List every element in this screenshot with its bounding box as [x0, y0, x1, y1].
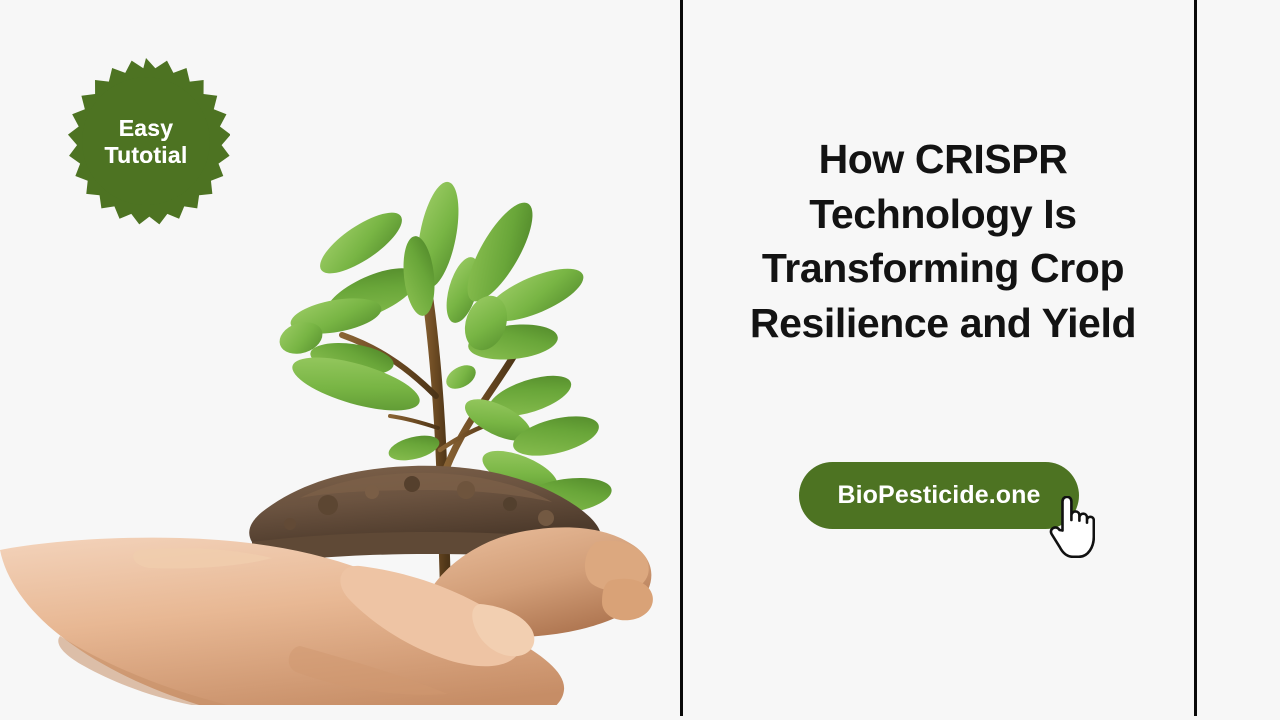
hands-holding-seedling-image [0, 80, 680, 705]
badge-line-2: Tutotial [105, 142, 188, 169]
biopesticide-link-button[interactable]: BioPesticide.one [799, 462, 1078, 529]
divider-left [680, 0, 683, 716]
cta-container: BioPesticide.one [684, 462, 1194, 529]
badge-line-1: Easy [105, 115, 188, 142]
slide-canvas: Easy Tutotial [0, 0, 1280, 720]
badge-text: Easy Tutotial [105, 115, 188, 168]
page-title: How CRISPR Technology Is Transforming Cr… [704, 132, 1182, 350]
divider-right [1194, 0, 1197, 716]
right-content-panel: How CRISPR Technology Is Transforming Cr… [684, 0, 1194, 720]
